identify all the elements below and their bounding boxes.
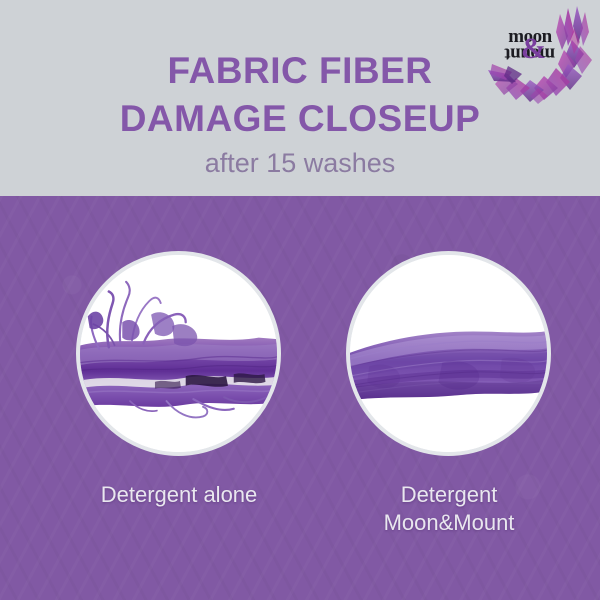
caption-right-line-2: Moon&Mount bbox=[318, 509, 580, 537]
intact-fiber-photo bbox=[350, 255, 547, 452]
logo-ampersand: & bbox=[521, 34, 546, 64]
page-subtitle: after 15 washes bbox=[0, 150, 600, 177]
damaged-fiber-circle bbox=[76, 251, 281, 456]
brand-logo: moon mount & bbox=[482, 2, 594, 112]
caption-left-text: Detergent alone bbox=[101, 482, 258, 507]
header-band: FABRIC FIBER DAMAGE CLOSEUP after 15 was… bbox=[0, 0, 600, 196]
caption-left: Detergent alone bbox=[48, 481, 310, 509]
caption-right-line-1: Detergent bbox=[318, 481, 580, 509]
comparison-panel: Detergent alone Detergent Moon&Mount bbox=[0, 196, 600, 600]
poster: FABRIC FIBER DAMAGE CLOSEUP after 15 was… bbox=[0, 0, 600, 600]
intact-fiber-circle bbox=[346, 251, 551, 456]
damaged-fiber-photo bbox=[80, 255, 277, 452]
caption-right: Detergent Moon&Mount bbox=[318, 481, 580, 536]
